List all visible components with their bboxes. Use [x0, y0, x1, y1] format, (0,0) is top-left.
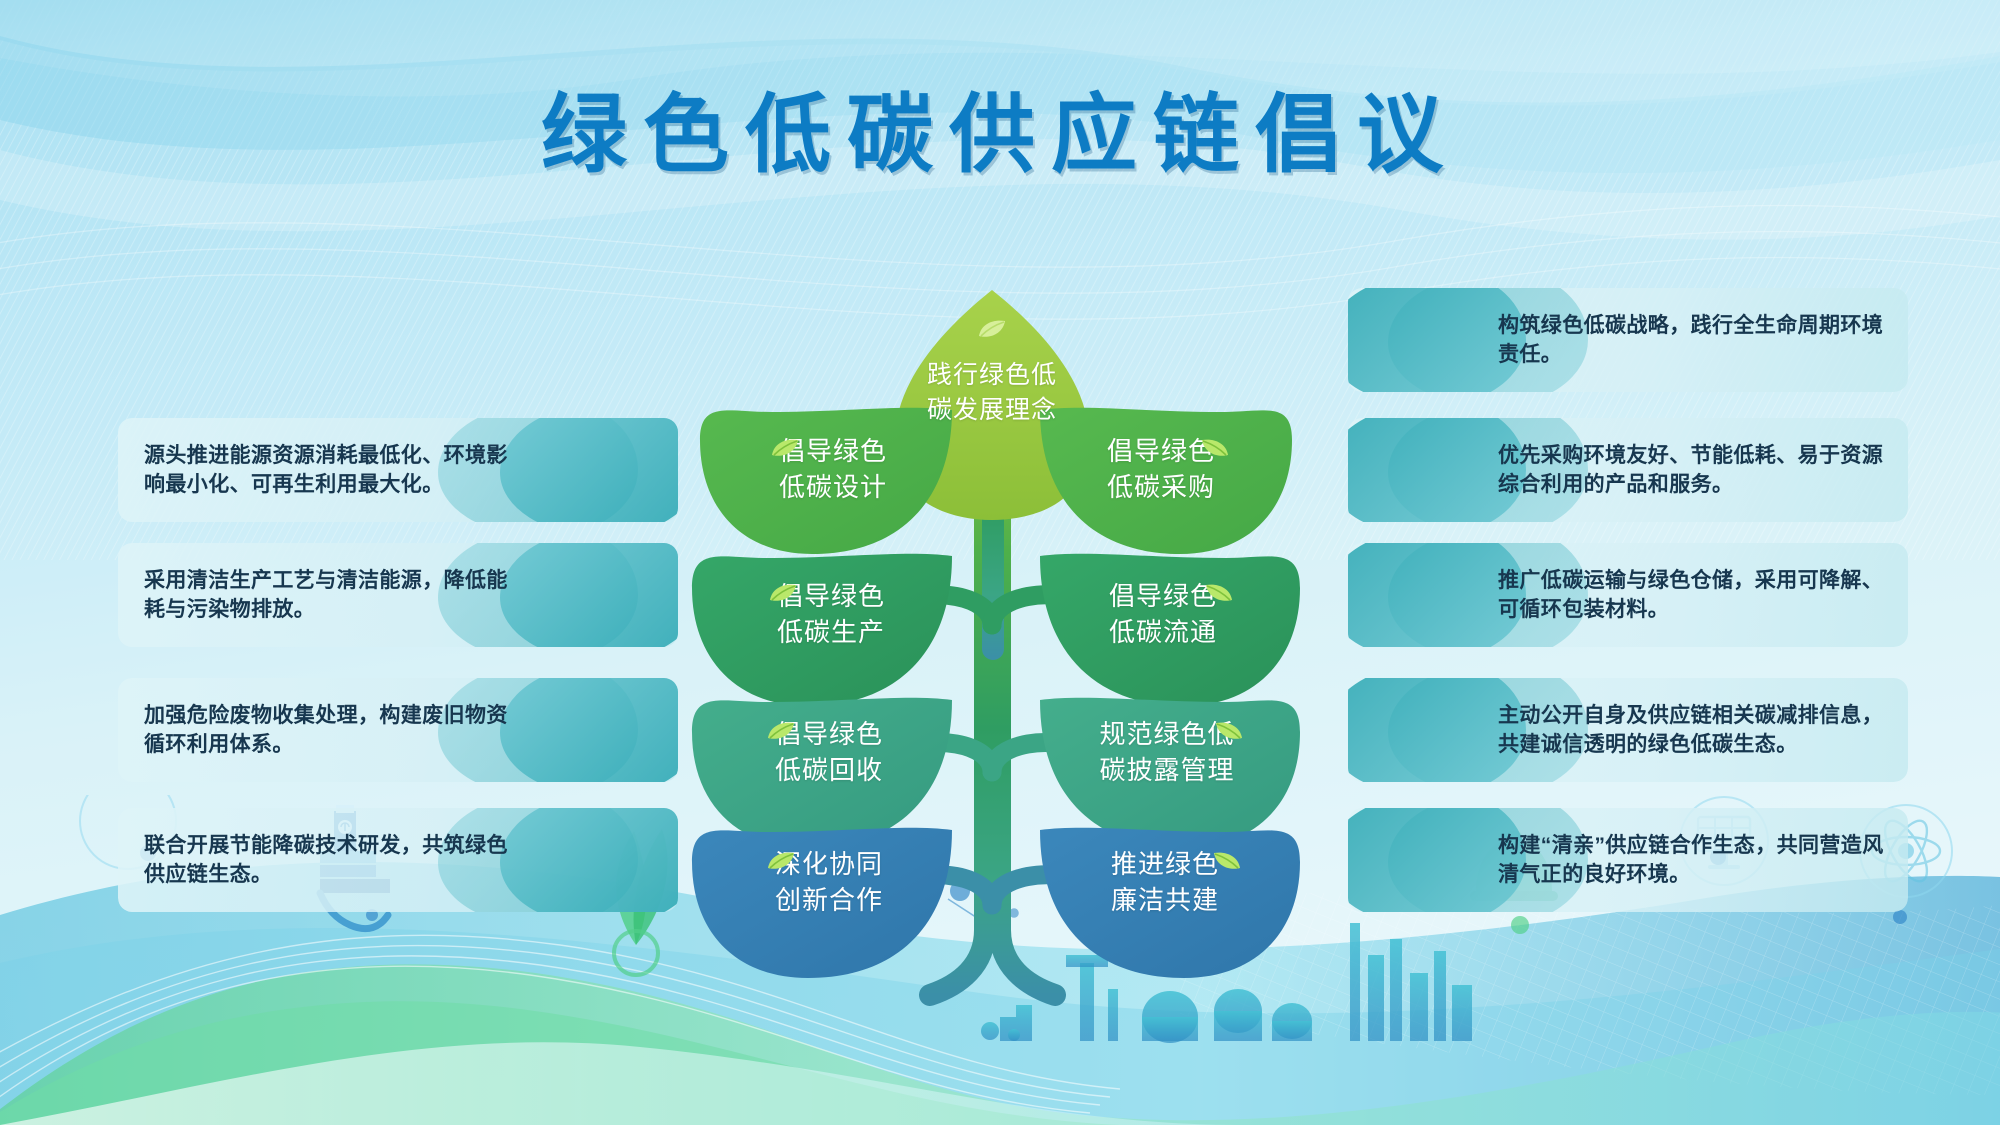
tree-top-leaf-label: 践行绿色低 碳发展理念 — [892, 358, 1092, 427]
panel-right-2: 优先采购环境友好、节能低耗、易于资源综合利用的产品和服务。 — [1348, 418, 1908, 522]
tree-leaf-label-procurement: 倡导绿色 低碳采购 — [1036, 434, 1286, 506]
leaf-icon — [766, 850, 796, 872]
leaf-icon — [768, 582, 798, 604]
leaf-icon — [766, 720, 796, 742]
leaf-icon — [770, 437, 800, 459]
panel-text: 构筑绿色低碳战略，践行全生命周期环境责任。 — [1348, 311, 1908, 370]
tree-leaf-label-disclosure: 规范绿色低 碳披露管理 — [1042, 717, 1292, 789]
panel-text: 主动公开自身及供应链相关碳减排信息，共建诚信透明的绿色低碳生态。 — [1348, 701, 1908, 760]
tree-leaf-label-collaboration: 深化协同 创新合作 — [704, 847, 954, 919]
panel-left-1: 源头推进能源资源消耗最低化、环境影响最小化、可再生利用最大化。 — [118, 418, 678, 522]
panel-text: 加强危险废物收集处理，构建废旧物资循环利用体系。 — [118, 701, 678, 760]
tree-leaf-label-distribution: 倡导绿色 低碳流通 — [1038, 579, 1288, 651]
panel-left-3: 加强危险废物收集处理，构建废旧物资循环利用体系。 — [118, 678, 678, 782]
panel-text: 联合开展节能降碳技术研发，共筑绿色供应链生态。 — [118, 831, 678, 890]
panel-right-3: 推广低碳运输与绿色仓储，采用可降解、可循环包装材料。 — [1348, 543, 1908, 647]
panel-right-5: 构建“清亲”供应链合作生态，共同营造风清气正的良好环境。 — [1348, 808, 1908, 912]
leaf-icon — [1214, 720, 1244, 742]
panel-right-1: 构筑绿色低碳战略，践行全生命周期环境责任。 — [1348, 288, 1908, 392]
panel-right-4: 主动公开自身及供应链相关碳减排信息，共建诚信透明的绿色低碳生态。 — [1348, 678, 1908, 782]
panel-text: 优先采购环境友好、节能低耗、易于资源综合利用的产品和服务。 — [1348, 441, 1908, 500]
tree-leaf-label-production: 倡导绿色 低碳生产 — [706, 579, 956, 651]
tree-leaf-label-design: 倡导绿色 低碳设计 — [708, 434, 958, 506]
panel-text: 推广低碳运输与绿色仓储，采用可降解、可循环包装材料。 — [1348, 566, 1908, 625]
leaf-icon — [1200, 437, 1230, 459]
tree-leaf-label-recycling: 倡导绿色 低碳回收 — [704, 717, 954, 789]
page-title: 绿色低碳供应链倡议 — [541, 92, 1459, 178]
leaf-icon — [1204, 582, 1234, 604]
page-title-wrap: 绿色低碳供应链倡议 — [0, 92, 2000, 178]
tree-leaf-label-integrity: 推进绿色 廉洁共建 — [1040, 847, 1290, 919]
panel-text: 源头推进能源资源消耗最低化、环境影响最小化、可再生利用最大化。 — [118, 441, 678, 500]
panel-left-4: 联合开展节能降碳技术研发，共筑绿色供应链生态。 — [118, 808, 678, 912]
panel-text: 采用清洁生产工艺与清洁能源，降低能耗与污染物排放。 — [118, 566, 678, 625]
leaf-icon — [1212, 850, 1242, 872]
panel-text: 构建“清亲”供应链合作生态，共同营造风清气正的良好环境。 — [1348, 831, 1908, 890]
leaf-icon — [977, 318, 1007, 340]
panel-left-2: 采用清洁生产工艺与清洁能源，降低能耗与污染物排放。 — [118, 543, 678, 647]
